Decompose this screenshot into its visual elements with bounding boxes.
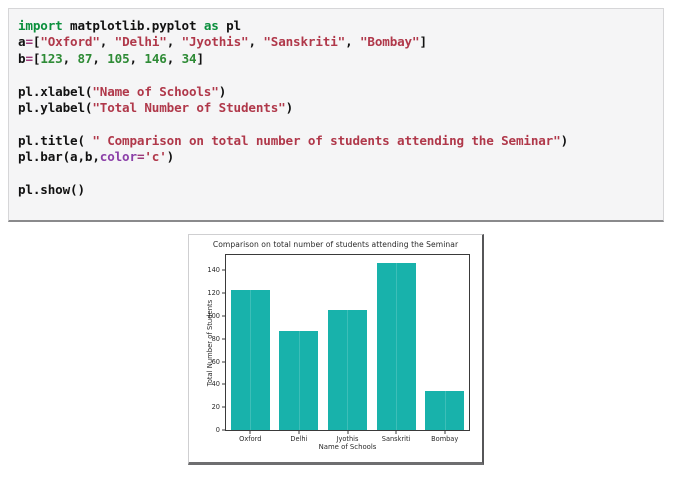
x-tick-label: Delhi — [290, 435, 307, 443]
code-token-num: 123 — [40, 51, 62, 66]
code-token-op: = — [25, 34, 32, 49]
code-line — [18, 116, 661, 132]
code-token-plain: pl — [219, 18, 241, 33]
code-token-plain: ) — [167, 149, 174, 164]
code-token-kwarg: color — [100, 149, 137, 164]
code-line: pl.xlabel("Name of Schools") — [18, 84, 661, 100]
code-line: pl.show() — [18, 182, 661, 198]
code-token-plain: , — [248, 34, 263, 49]
y-tick-label: 80 — [212, 335, 220, 343]
y-tick-label: 20 — [212, 403, 220, 411]
code-token-num: 34 — [182, 51, 197, 66]
code-token-plain: ] — [196, 51, 203, 66]
x-tick-mark — [444, 431, 445, 434]
code-token-str: "Sanskriti" — [263, 34, 345, 49]
y-tick-label: 0 — [216, 426, 220, 434]
x-tick-label: Jyothis — [337, 435, 359, 443]
matplotlib-figure: Comparison on total number of students a… — [188, 234, 484, 465]
bar-bombay — [425, 391, 464, 430]
code-token-plain: , — [63, 51, 78, 66]
x-axis-label: Name of Schools — [225, 443, 470, 451]
y-tick-label: 40 — [212, 380, 220, 388]
bar-seam — [396, 263, 397, 430]
x-tick-label: Sanskriti — [382, 435, 411, 443]
code-token-str: "Jyothis" — [182, 34, 249, 49]
bars-container — [226, 255, 469, 430]
bar-seam — [299, 331, 300, 430]
code-token-plain: matplotlib.pyplot — [63, 18, 204, 33]
chart-title: Comparison on total number of students a… — [189, 240, 482, 249]
code-line: a=["Oxford", "Delhi", "Jyothis", "Sanskr… — [18, 34, 661, 50]
bar-jyothis — [328, 310, 367, 430]
code-token-plain: pl.ylabel( — [18, 100, 92, 115]
code-line — [18, 166, 661, 182]
code-line: import matplotlib.pyplot as pl — [18, 18, 661, 34]
code-line: pl.title( " Comparison on total number o… — [18, 133, 661, 149]
code-token-str: "Oxford" — [40, 34, 99, 49]
code-token-num: 87 — [77, 51, 92, 66]
code-token-plain: , — [130, 51, 145, 66]
code-token-plain: , — [167, 34, 182, 49]
y-tick-label: 100 — [207, 312, 220, 320]
code-token-plain: ) — [219, 84, 226, 99]
code-token-num: 105 — [107, 51, 129, 66]
code-token-op: = — [25, 51, 32, 66]
code-token-str: 'c' — [144, 149, 166, 164]
code-listing: import matplotlib.pyplot as pla=["Oxford… — [18, 18, 661, 198]
code-token-num: 146 — [144, 51, 166, 66]
code-token-plain: , — [345, 34, 360, 49]
y-tick-label: 140 — [207, 266, 220, 274]
code-token-str: "Bombay" — [360, 34, 419, 49]
code-token-plain: , — [92, 51, 107, 66]
bar-seam — [347, 310, 348, 430]
code-token-plain: pl.bar(a,b, — [18, 149, 100, 164]
code-token-plain: pl.show() — [18, 182, 85, 197]
x-tick-mark — [250, 431, 251, 434]
x-tick-label: Oxford — [239, 435, 261, 443]
bar-delhi — [279, 331, 318, 430]
code-token-str: "Delhi" — [115, 34, 167, 49]
code-token-plain: ] — [419, 34, 426, 49]
code-token-str: "Total Number of Students" — [92, 100, 285, 115]
code-token-str: " Comparison on total number of students… — [92, 133, 560, 148]
code-line: pl.ylabel("Total Number of Students") — [18, 100, 661, 116]
bar-seam — [445, 391, 446, 430]
code-token-str: "Name of Schools" — [92, 84, 218, 99]
code-token-plain: , — [167, 51, 182, 66]
code-token-kw: as — [204, 18, 219, 33]
x-tick-mark — [396, 431, 397, 434]
code-token-kw: import — [18, 18, 63, 33]
y-tick-label: 120 — [207, 289, 220, 297]
bar-oxford — [231, 290, 270, 430]
code-token-plain: ) — [561, 133, 568, 148]
code-block: import matplotlib.pyplot as pla=["Oxford… — [8, 8, 664, 222]
code-token-plain: pl.title( — [18, 133, 92, 148]
y-tick-label: 60 — [212, 358, 220, 366]
code-token-plain: , — [100, 34, 115, 49]
code-line: pl.bar(a,b,color='c') — [18, 149, 661, 165]
code-line: b=[123, 87, 105, 146, 34] — [18, 51, 661, 67]
code-token-plain: pl.xlabel( — [18, 84, 92, 99]
x-tick-label: Bombay — [431, 435, 458, 443]
y-axis-ticks: 020406080100120140 — [189, 254, 225, 431]
code-line — [18, 67, 661, 83]
x-tick-mark — [347, 431, 348, 434]
x-tick-mark — [298, 431, 299, 434]
code-token-plain: ) — [286, 100, 293, 115]
bar-seam — [250, 290, 251, 430]
plot-area — [225, 254, 470, 431]
bar-sanskriti — [377, 263, 416, 430]
